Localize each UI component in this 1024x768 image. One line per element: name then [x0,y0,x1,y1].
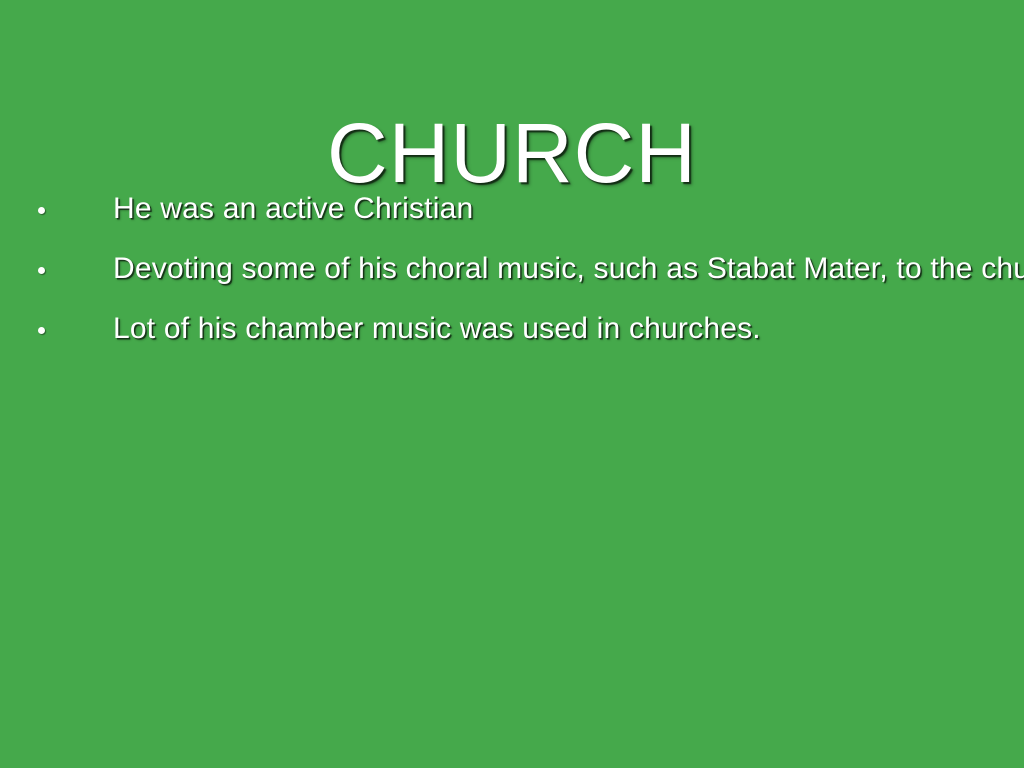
presentation-slide: CHURCH He was an active Christian Devoti… [0,0,1024,768]
list-item[interactable]: He was an active Christian [0,190,1024,250]
bullet-point-icon [38,207,45,214]
list-item[interactable]: Lot of his chamber music was used in chu… [0,310,1024,370]
list-item-label: He was an active Christian [113,190,473,228]
bullet-point-icon [38,327,45,334]
list-item-label: Lot of his chamber music was used in chu… [113,310,761,348]
bullet-list: He was an active Christian Devoting some… [0,190,1024,370]
bullet-point-icon [38,267,45,274]
list-item-label: Devoting some of his choral music, such … [113,250,1024,288]
list-item[interactable]: Devoting some of his choral music, such … [0,250,1024,310]
page-title: CHURCH [0,108,1024,199]
